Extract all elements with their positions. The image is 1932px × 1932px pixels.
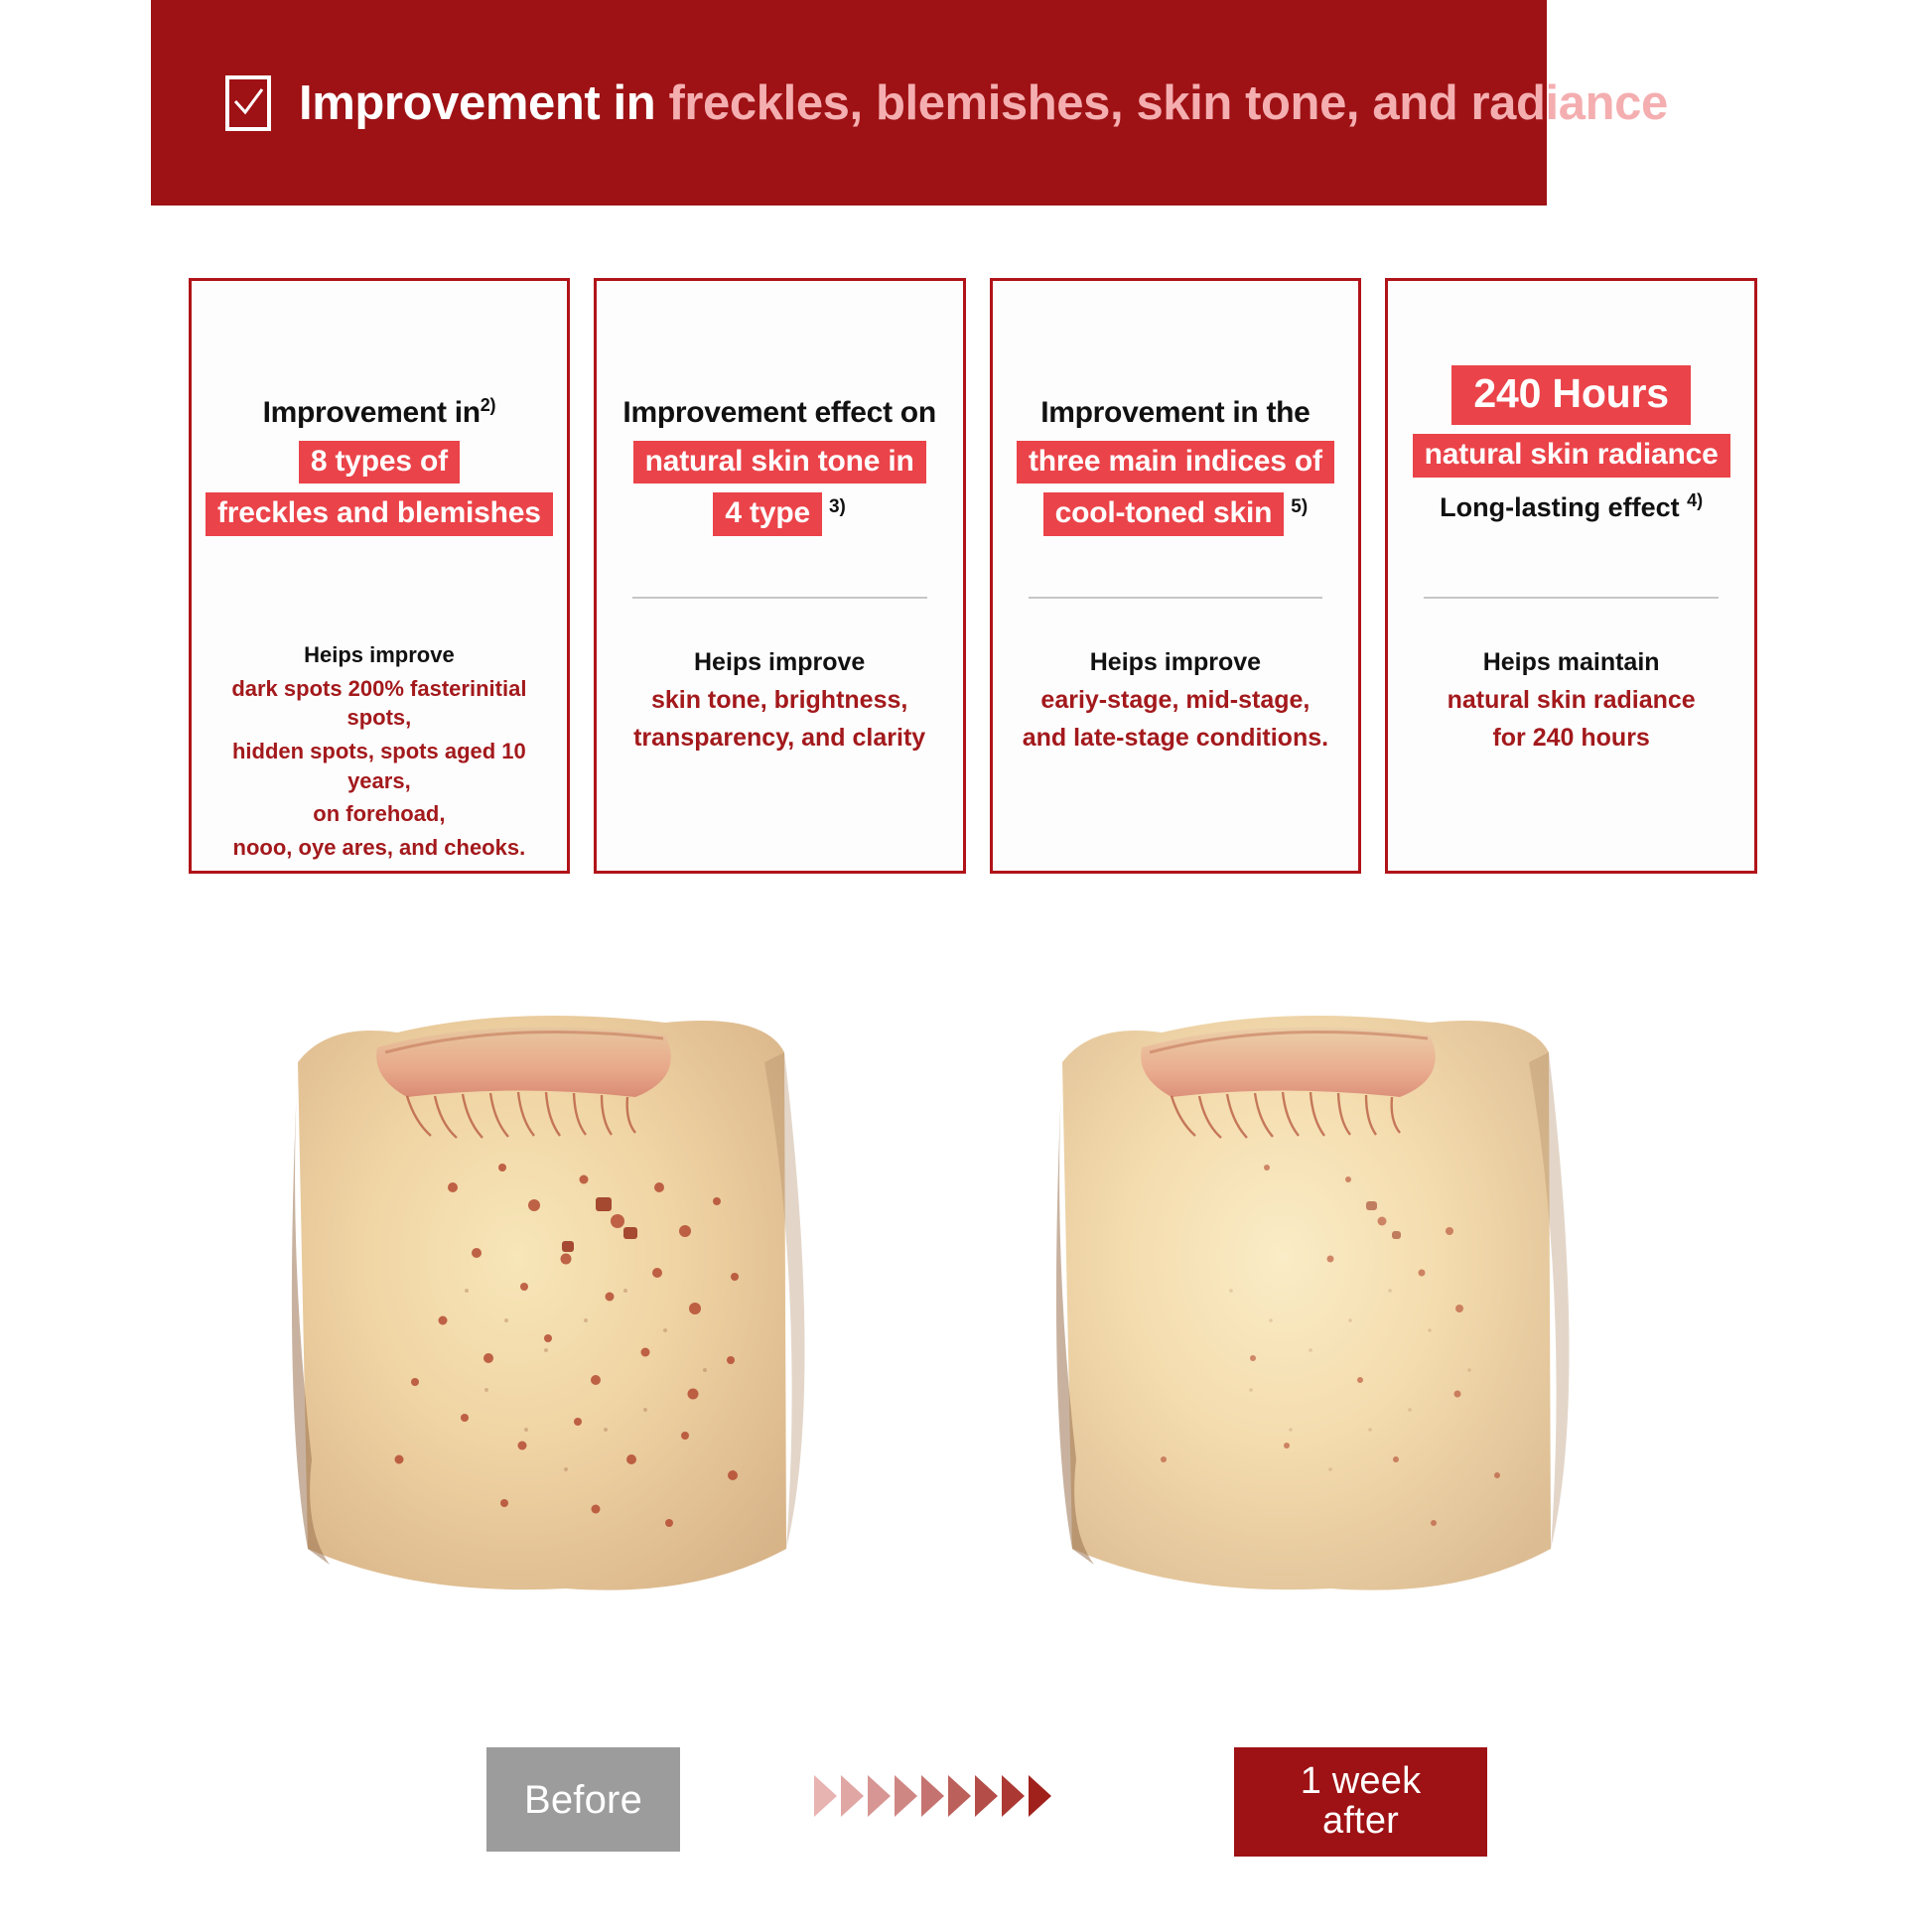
card-4-body-lead: Heips maintain <box>1483 646 1660 680</box>
claim-cards-row: Improvement in2) 8 types of freckles and… <box>189 278 1757 874</box>
before-photo <box>268 993 894 1668</box>
claim-card-cool-toned: Improvement in the three main indices of… <box>990 278 1362 874</box>
card-3-chip-1: three main indices of <box>1017 441 1334 484</box>
card-2-chip-1: natural skin tone in <box>633 441 926 484</box>
card-1-footnote-marker: 2) <box>481 395 495 415</box>
card-1-chip-1: 8 types of <box>299 441 460 484</box>
progress-arrow-icon <box>841 1775 864 1817</box>
card-2-chip-2: 4 type <box>713 492 822 536</box>
card-1-headline: Improvement in2) <box>263 394 496 432</box>
after-label-line-2: after <box>1322 1802 1399 1842</box>
card-3-body-lead: Heips improve <box>1090 646 1261 680</box>
after-photo <box>1033 993 1658 1668</box>
card-4-chip-1: natural skin radiance <box>1413 434 1730 478</box>
banner-inner: Improvement in freckles, blemishes, skin… <box>151 75 1668 131</box>
claim-card-freckles: Improvement in2) 8 types of freckles and… <box>189 278 570 874</box>
card-3-headline: Improvement in the <box>1040 394 1310 432</box>
card-1-body-line-3: on forehoad, <box>313 799 445 829</box>
card-4-footnote-marker: 4) <box>1687 490 1703 510</box>
card-2-body-lead: Heips improve <box>694 646 865 680</box>
progress-arrows <box>814 1775 1051 1817</box>
progress-arrow-icon <box>975 1775 998 1817</box>
after-label: 1 week after <box>1234 1747 1487 1857</box>
card-1-body-lead: Heips improve <box>304 640 455 670</box>
after-label-line-1: 1 week <box>1301 1762 1422 1802</box>
infographic-page: Improvement in freckles, blemishes, skin… <box>0 0 1932 1932</box>
card-4-subnote-text: Long-lasting effect <box>1440 492 1680 522</box>
card-2-body-line-1: skin tone, brightness, <box>651 684 907 718</box>
after-skin-image <box>1033 993 1658 1668</box>
progress-arrow-icon <box>1002 1775 1025 1817</box>
card-1-body-line-1: dark spots 200% fasterinitial spots, <box>206 674 553 733</box>
card-4-chip-hours: 240 Hours <box>1451 365 1690 425</box>
progress-arrow-icon <box>1029 1775 1051 1817</box>
claim-card-240-hours: 240 Hours natural skin radiance Long-las… <box>1385 278 1757 874</box>
card-4-body: Heips maintain natural skin radiance for… <box>1402 599 1740 849</box>
card-4-body-line-2: for 240 hours <box>1492 722 1649 756</box>
card-3-body-line-1: eariy-stage, mid-stage, <box>1040 684 1310 718</box>
card-2-body: Heips improve skin tone, brightness, tra… <box>611 599 949 849</box>
card-1-body-line-2: hidden spots, spots aged 10 years, <box>206 737 553 795</box>
progress-arrow-icon <box>814 1775 837 1817</box>
card-2-headline: Improvement effect on <box>622 394 935 432</box>
card-1-chip-2: freckles and blemishes <box>206 492 553 536</box>
card-4-body-line-1: natural skin radiance <box>1448 684 1696 718</box>
card-3-footnote-marker: 5) <box>1291 492 1308 518</box>
card-2-body-line-2: transparency, and clarity <box>633 722 925 756</box>
before-label-text: Before <box>524 1779 642 1821</box>
card-2-head: Improvement effect on natural skin tone … <box>611 299 949 597</box>
banner-title-rest: freckles, blemishes, skin tone, and radi… <box>655 76 1668 130</box>
card-3-body: Heips improve eariy-stage, mid-stage, an… <box>1007 599 1345 849</box>
card-3-body-line-2: and late-stage conditions. <box>1023 722 1328 756</box>
comparison-photos <box>0 993 1932 1688</box>
claim-card-skin-tone: Improvement effect on natural skin tone … <box>594 278 966 874</box>
card-1-body-line-4: nooo, oye ares, and cheoks. <box>233 833 526 863</box>
card-1-body: Heips improve dark spots 200% fasterinit… <box>206 597 553 863</box>
before-label: Before <box>486 1747 680 1852</box>
card-2-chip-2-row: 4 type 3) <box>713 492 845 536</box>
card-1-head: Improvement in2) 8 types of freckles and… <box>206 299 553 597</box>
progress-arrow-icon <box>921 1775 944 1817</box>
progress-arrow-icon <box>895 1775 917 1817</box>
progress-arrow-icon <box>868 1775 891 1817</box>
progress-arrow-icon <box>948 1775 971 1817</box>
card-2-footnote-marker: 3) <box>829 492 846 518</box>
page-title: Improvement in freckles, blemishes, skin… <box>299 75 1668 131</box>
card-1-headline-text: Improvement in <box>263 396 481 429</box>
card-3-head: Improvement in the three main indices of… <box>1007 299 1345 597</box>
banner-title-bold: Improvement in <box>299 76 655 130</box>
comparison-labels: Before 1 week after <box>0 1747 1932 1876</box>
before-skin-image <box>268 993 894 1668</box>
checkbox-check-icon <box>225 75 271 131</box>
card-3-chip-2: cool-toned skin <box>1043 492 1285 536</box>
card-3-chip-2-row: cool-toned skin 5) <box>1043 492 1309 536</box>
card-4-subnote: Long-lasting effect 4) <box>1440 490 1703 523</box>
card-4-head: 240 Hours natural skin radiance Long-las… <box>1402 299 1740 597</box>
header-banner: Improvement in freckles, blemishes, skin… <box>151 0 1547 206</box>
